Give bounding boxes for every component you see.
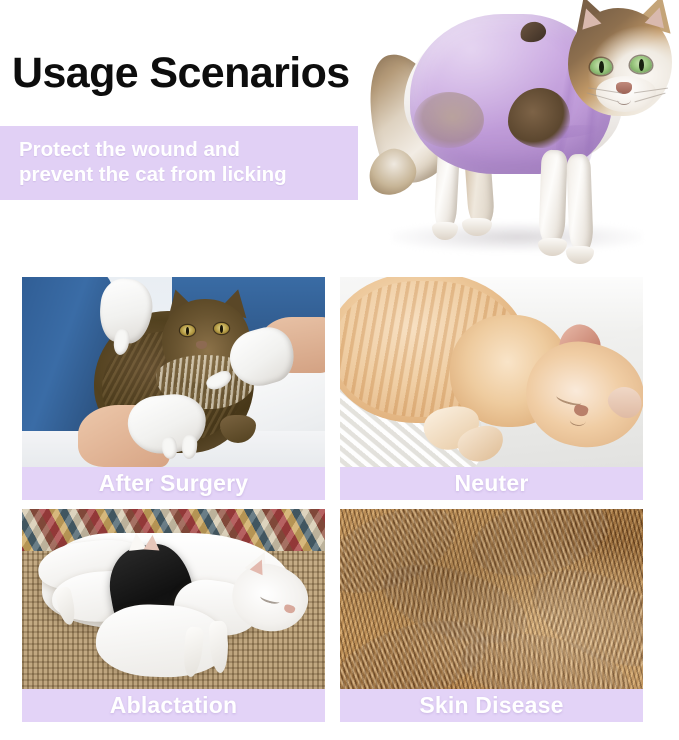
- tagline-banner: Protect the wound and prevent the cat fr…: [0, 126, 358, 200]
- cat-fur-rear: [414, 92, 484, 148]
- scenario-cell-after-surgery: After Surgery: [22, 277, 325, 500]
- cat-eye-left: [590, 58, 612, 75]
- cat-paw: [566, 246, 594, 264]
- cat-pupil: [599, 61, 604, 73]
- cat-front-leg-left: [538, 150, 567, 247]
- photo-vet-examining-tabby-cat: [22, 277, 325, 467]
- photo-ginger-cat-sleeping-on-bed: [340, 277, 643, 467]
- caption-bar-ablactation: Ablactation: [22, 689, 325, 722]
- tabby-cat-pupil: [186, 327, 190, 335]
- scenario-cell-skin-disease: Skin Disease: [340, 509, 643, 722]
- scenario-grid: After Surgery Neuter: [22, 277, 656, 722]
- cat-pupil: [639, 59, 644, 71]
- photo-close-up-of-golden-fur: [340, 509, 643, 689]
- cat-fur-front: [508, 88, 570, 148]
- cat-eye-right: [630, 56, 652, 73]
- tabby-cat-nose: [196, 341, 207, 349]
- header-section: Usage Scenarios Protect the wound and pr…: [0, 0, 679, 268]
- scenario-cell-neuter: Neuter: [340, 277, 643, 500]
- tagline-text: Protect the wound and prevent the cat fr…: [19, 137, 349, 187]
- hero-shadow: [392, 222, 642, 252]
- kitten-inner-ear: [143, 534, 160, 550]
- caption-label: Ablactation: [110, 692, 237, 719]
- scenario-cell-ablactation: Ablactation: [22, 509, 325, 722]
- tabby-cat-pupil: [220, 325, 224, 333]
- hero-product-photo: [362, 0, 679, 266]
- caption-label: Skin Disease: [419, 692, 563, 719]
- cat-mouth: [617, 95, 631, 105]
- caption-bar-skin-disease: Skin Disease: [340, 689, 643, 722]
- cat-paw: [538, 238, 567, 256]
- caption-label: After Surgery: [99, 470, 249, 497]
- caption-label: Neuter: [454, 470, 528, 497]
- tabby-cat-eye-left: [180, 325, 195, 336]
- caption-bar-neuter: Neuter: [340, 467, 643, 500]
- photo-white-cat-nursing-kittens: [22, 509, 325, 689]
- cat-front-leg-right: [566, 154, 593, 255]
- tabby-cat-eye-right: [214, 323, 229, 334]
- fur-shading: [340, 509, 643, 689]
- page-title: Usage Scenarios: [12, 52, 350, 95]
- caption-bar-after-surgery: After Surgery: [22, 467, 325, 500]
